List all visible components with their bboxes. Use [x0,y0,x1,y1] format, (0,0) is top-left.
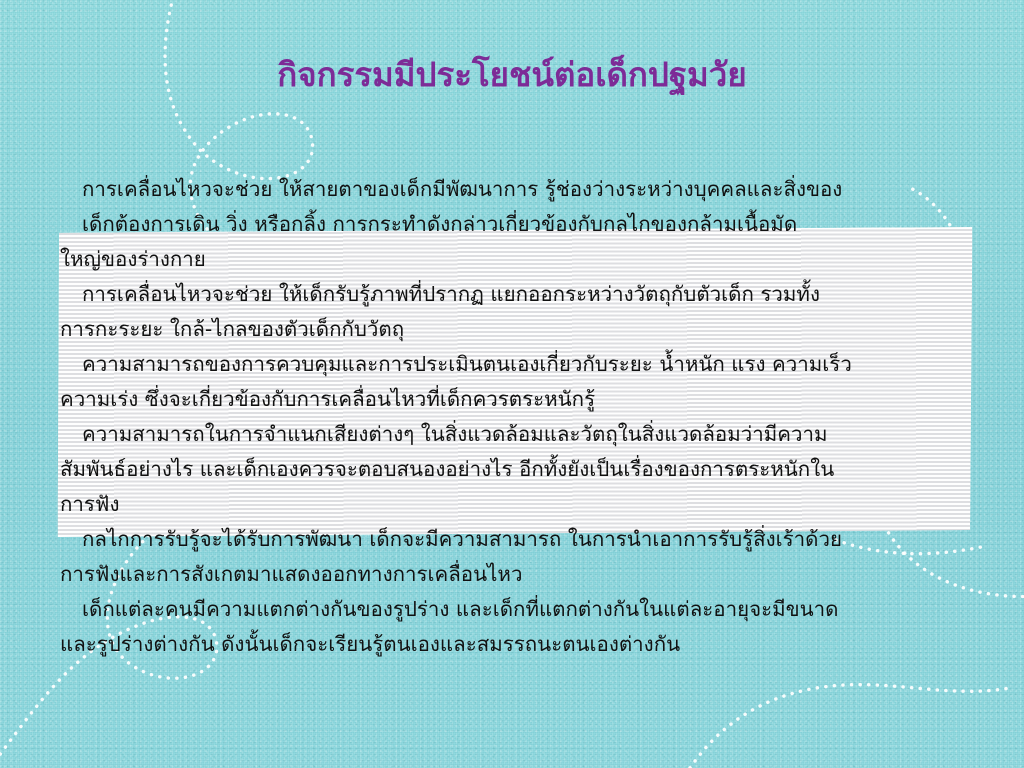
body-line: และรูปร่างต่างกัน ดังนั้นเด็กจะเรียนรู้ต… [60,627,976,662]
body-line: ความสามารถในการจำแนกเสียงต่างๆ ในสิ่งแวด… [60,417,976,452]
body-line: เด็กแต่ละคนมีความแตกต่างกันของรูปร่าง แล… [60,592,976,627]
body-line: เด็กต้องการเดิน วิ่ง หรือกลิ้ง การกระทำด… [60,207,976,242]
body-line: การฟัง [60,487,976,522]
presentation-slide: กิจกรรมมีประโยชน์ต่อเด็กปฐมวัย การเคลื่อ… [0,0,1024,768]
body-line: การเคลื่อนไหวจะช่วย ให้สายตาของเด็กมีพัฒ… [60,172,976,207]
body-text-block: การเคลื่อนไหวจะช่วย ให้สายตาของเด็กมีพัฒ… [60,172,976,662]
page-title: กิจกรรมมีประโยชน์ต่อเด็กปฐมวัย [0,55,1024,95]
body-line: ความเร่ง ซึ่งจะเกี่ยวข้องกับการเคลื่อนไห… [60,382,976,417]
body-line: ความสามารถของการควบคุมและการประเมินตนเอง… [60,347,976,382]
body-line: ใหญ่ของร่างกาย [60,242,976,277]
body-line: สัมพันธ์อย่างไร และเด็กเองควรจะตอบสนองอย… [60,452,976,487]
body-line: การเคลื่อนไหวจะช่วย ให้เด็กรับรู้ภาพที่ป… [60,277,976,312]
body-line: การฟังและการสังเกตมาแสดงออกทางการเคลื่อน… [60,557,976,592]
body-line: กลไกการรับรู้จะได้รับการพัฒนา เด็กจะมีคว… [60,522,976,557]
body-line: การกะระยะ ใกล้-ไกลของตัวเด็กกับวัตถุ [60,312,976,347]
